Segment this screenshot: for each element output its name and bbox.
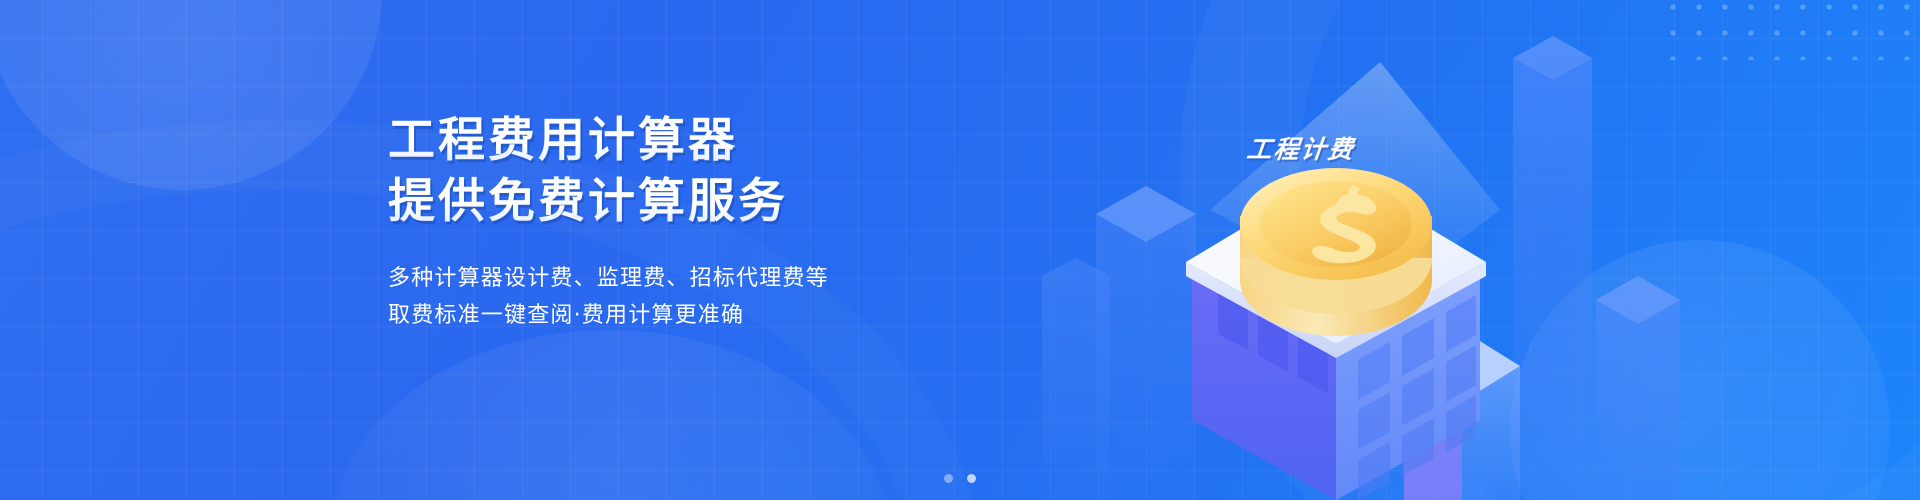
illustration-badge-label: 工程计费 (1245, 130, 1357, 166)
banner-subtitle-line-1: 多种计算器设计费、监理费、招标代理费等 (388, 260, 1008, 297)
banner-subtitle-group: 多种计算器设计费、监理费、招标代理费等 取费标准一键查阅·费用计算更准确 (388, 260, 1008, 334)
banner-headline-line-2: 提供免费计算服务 (388, 173, 1008, 230)
carousel-dot-1[interactable] (944, 474, 953, 483)
hero-illustration: 工程计费 (1080, 0, 1640, 500)
banner-subtitle-line-2: 取费标准一键查阅·费用计算更准确 (388, 297, 1008, 334)
carousel-indicator[interactable] (0, 474, 1920, 483)
isometric-building-coin-illustration (1080, 0, 1640, 500)
banner-copy: 工程费用计算器 提供免费计算服务 多种计算器设计费、监理费、招标代理费等 取费标… (388, 112, 1008, 334)
hero-banner: 工程费用计算器 提供免费计算服务 多种计算器设计费、监理费、招标代理费等 取费标… (0, 0, 1920, 500)
banner-headline-line-1: 工程费用计算器 (388, 112, 1008, 169)
carousel-dot-2[interactable] (967, 474, 976, 483)
